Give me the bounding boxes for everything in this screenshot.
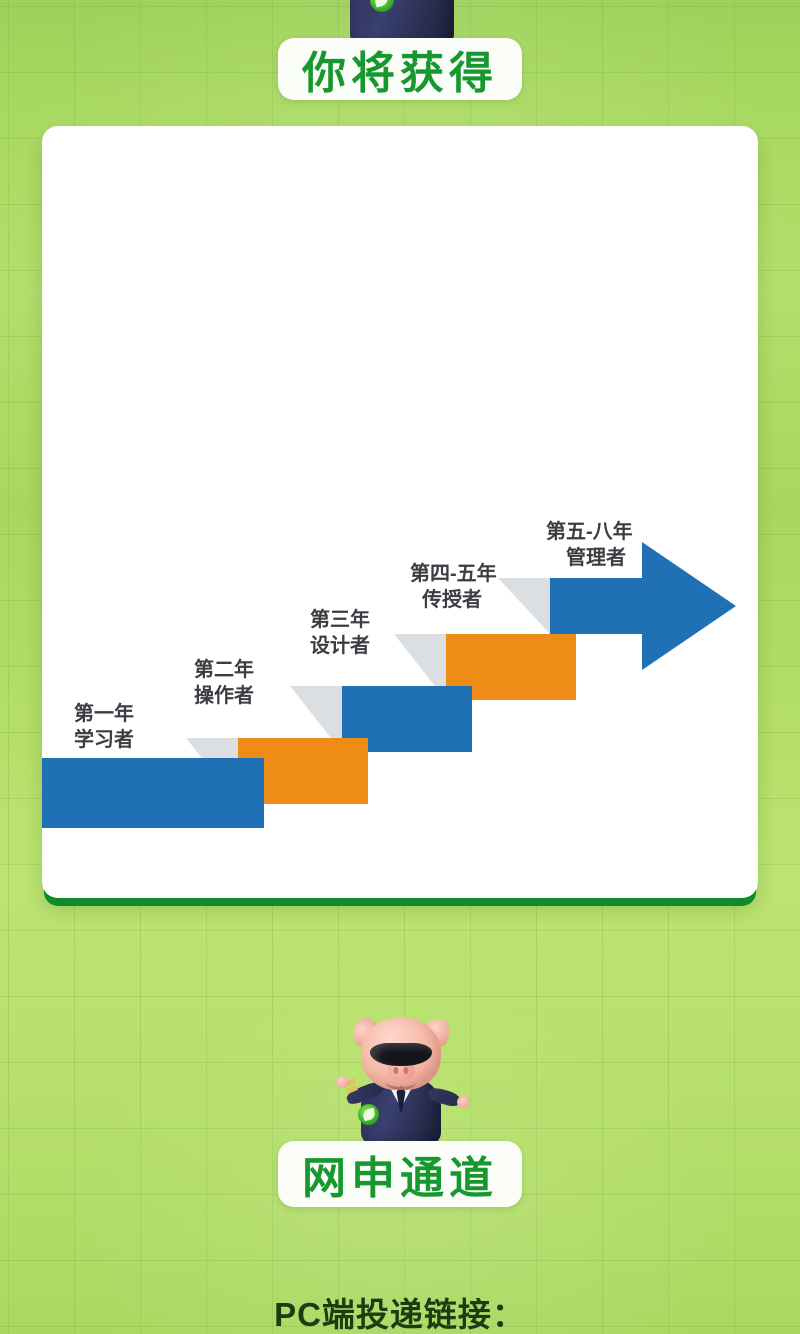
ladder-step-4-role: 传授者 [421,587,482,611]
mascot-hand-left [336,1076,349,1088]
section-heading-benefits-label: 你将获得 [302,37,498,101]
ladder-step-5-bar [550,578,680,634]
nostril [403,1067,408,1075]
ladder-step-5-role: 管理者 [566,545,626,569]
ladder-step-5-year: 第五-八年 [546,520,633,543]
ladder-step-3-year: 第三年 [310,607,370,631]
section-heading-apply[interactable]: 网申通道 [278,1141,522,1207]
career-ladder-chart: 第一年 学习者 第二年 操作者 第三年 设计者 第四-五年 传授者 第五-八年 … [42,520,758,860]
nostril [394,1067,399,1075]
ladder-step-2-year: 第二年 [194,657,254,681]
ladder-step-3-role: 设计者 [310,633,370,657]
ladder-step-1-role: 学习者 [74,727,134,751]
ladder-step-1-bar [42,758,264,828]
mascot-hand-right [457,1096,470,1108]
ladder-connector-5 [498,578,550,634]
mascot-mouth [386,1075,416,1090]
ladder-step-2-role: 操作者 [194,683,254,707]
promo-poster: 你将获得 完备的薪酬福利保障 系统的人才培养体系 [0,0,800,1334]
pig-mascot-bottom [330,1016,472,1146]
ladder-step-4-year: 第四-五年 [410,561,497,585]
section-heading-benefits: 你将获得 [278,38,522,100]
leaf-badge-icon [358,1104,379,1125]
ladder-step-1-year: 第一年 [74,701,134,725]
pc-link-label: PC端投递链接： [0,1288,800,1334]
section-heading-apply-label: 网申通道 [302,1142,498,1206]
